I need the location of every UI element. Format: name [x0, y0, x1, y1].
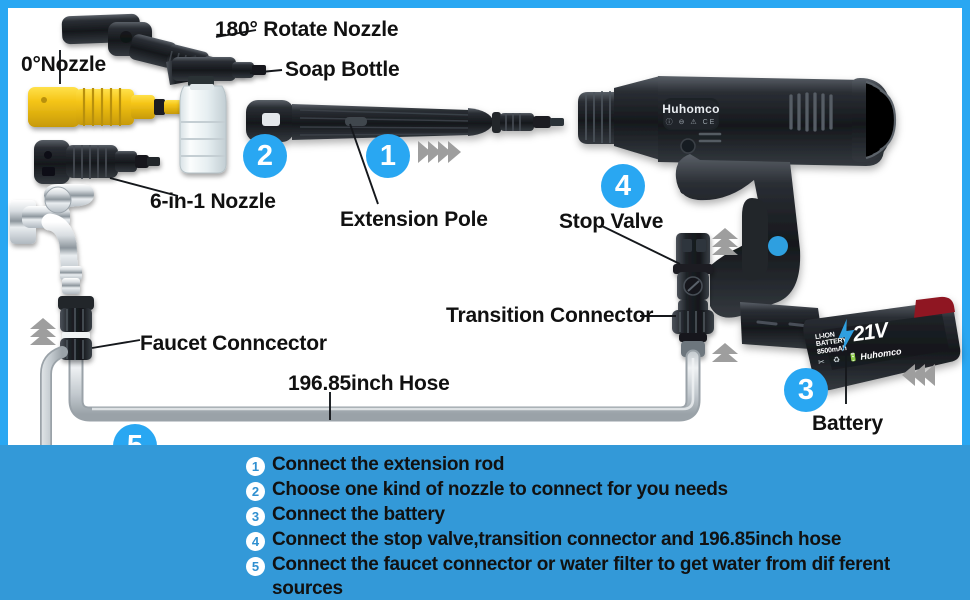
instruction-text: Connect the battery: [272, 503, 445, 527]
leader-faucet-connector: [92, 340, 140, 348]
instruction-number: 2: [246, 482, 265, 501]
instruction-number: 3: [246, 507, 265, 526]
label-faucet-connector: Faucet Conncector: [140, 332, 327, 356]
gun-brand-plate: Huhomco ⓘ ⊖ ⚠ CE: [664, 100, 718, 129]
label-stop-valve: Stop Valve: [559, 210, 663, 234]
instruction-text: Choose one kind of nozzle to connect for…: [272, 478, 728, 502]
instruction-item: 1 Connect the extension rod: [246, 453, 946, 477]
chevron-left-icon: [922, 364, 935, 386]
step-badge-2[interactable]: 2: [243, 134, 287, 178]
label-hose: 196.85inch Hose: [288, 372, 450, 396]
instruction-number: 5: [246, 557, 265, 576]
label-transition-connector: Transition Connector: [446, 304, 653, 328]
step-badge-1[interactable]: 1: [366, 134, 410, 178]
chevron-right-icon: [448, 141, 461, 163]
label-six-in-one-nozzle: 6-in-1 Nozzle: [150, 190, 276, 214]
instruction-number: 4: [246, 532, 265, 551]
label-rotate-nozzle: 180° Rotate Nozzle: [215, 18, 398, 42]
label-battery: Battery: [812, 412, 883, 436]
instruction-text: Connect the faucet connector or water fi…: [272, 553, 946, 600]
arrow-extension-to-gun: [418, 141, 458, 163]
instructions-list: 1 Connect the extension rod 2 Choose one…: [246, 453, 946, 600]
chevron-up-icon: [712, 351, 738, 362]
arrow-faucet-up: [30, 318, 56, 342]
instruction-text: Connect the extension rod: [272, 453, 504, 477]
instruction-number: 1: [246, 457, 265, 476]
arrow-hose-up: [712, 343, 738, 359]
transition-connector-art: [672, 300, 714, 357]
instruction-item: 4 Connect the stop valve,transition conn…: [246, 528, 946, 552]
arrow-battery-left: [902, 364, 932, 386]
extension-pole-art: [246, 100, 564, 142]
zero-degree-nozzle-art: [28, 87, 182, 127]
chevron-up-icon: [30, 334, 56, 345]
infographic-canvas: Huhomco ⓘ ⊖ ⚠ CE 21V Huhomco LI-ION BATT…: [0, 0, 970, 600]
instruction-item: 2 Choose one kind of nozzle to connect f…: [246, 478, 946, 502]
instruction-item: 5 Connect the faucet connector or water …: [246, 553, 946, 600]
chevron-up-icon: [712, 244, 738, 255]
gun-certification-icons: ⓘ ⊖ ⚠ CE: [666, 117, 717, 127]
six-in-one-nozzle-art: [34, 140, 160, 184]
label-extension-pole: Extension Pole: [340, 208, 488, 232]
stop-valve-art: [673, 233, 713, 300]
step-badge-4[interactable]: 4: [601, 164, 645, 208]
gun-brand-text: Huhomco: [662, 102, 719, 116]
instruction-text: Connect the stop valve,transition connec…: [272, 528, 841, 552]
lightning-bolt-icon: [834, 317, 861, 354]
faucet-art: [10, 184, 94, 294]
label-soap-bottle: Soap Bottle: [285, 58, 399, 82]
instruction-item: 3 Connect the battery: [246, 503, 946, 527]
step-badge-3[interactable]: 3: [784, 368, 828, 412]
arrow-stopvalve-up: [712, 228, 738, 252]
label-zero-nozzle: 0°Nozzle: [21, 53, 106, 77]
